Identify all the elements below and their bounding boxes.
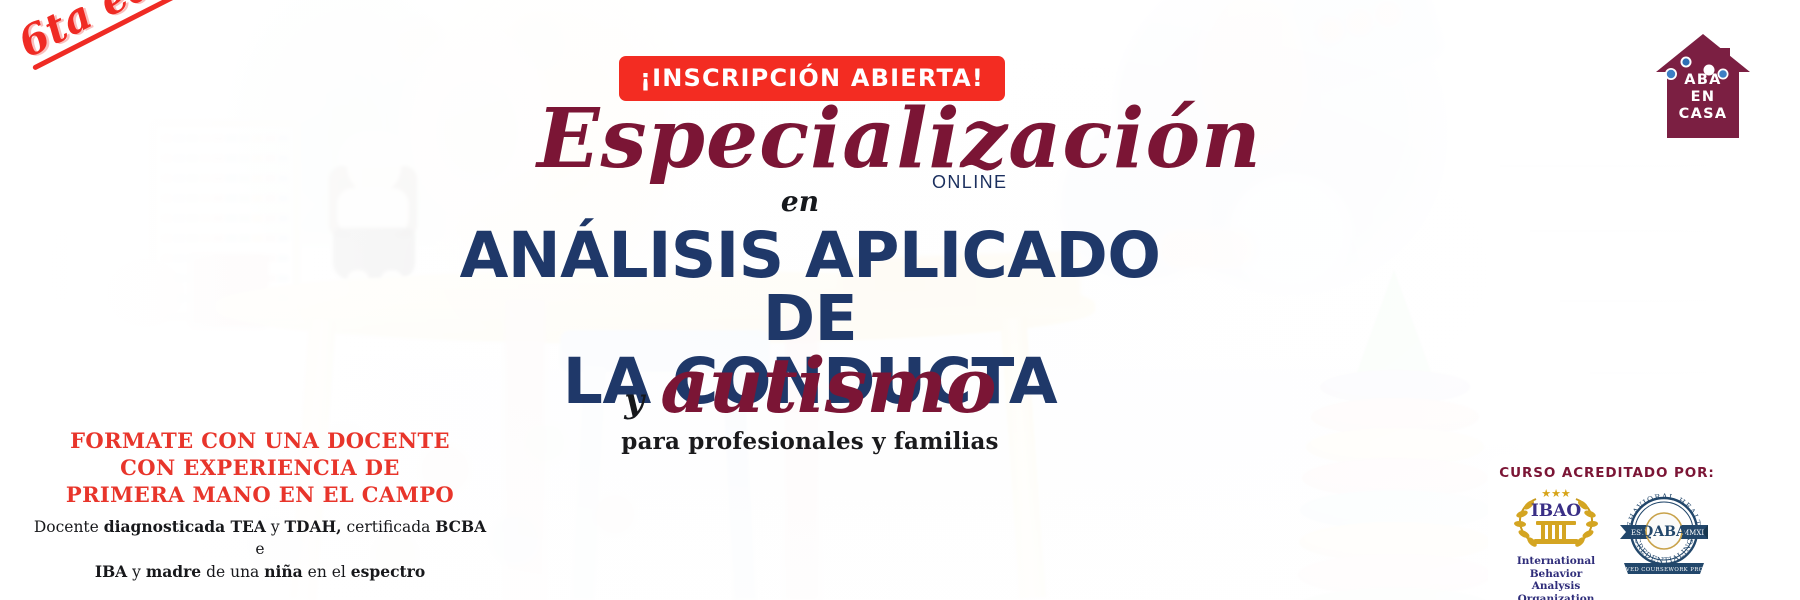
qaba-banner-text: APPROVED COURSEWORK PROVIDER: [1616, 567, 1712, 573]
ibao-name-line-2: Analysis Organization: [1502, 580, 1610, 600]
accreditation-card: CURSO ACREDITADO POR: ★★★: [1488, 455, 1726, 600]
ibao-org-name: International Behavior Analysis Organiza…: [1502, 555, 1610, 600]
teacher-highlight-line-3: PRIMERA MANO EN EL CAMPO: [55, 482, 465, 509]
connector-y: y: [624, 381, 644, 421]
teacher-highlight: FORMATE CON UNA DOCENTE CON EXPERIENCIA …: [55, 428, 465, 509]
aba-en-casa-logo: ABA EN CASA: [1653, 32, 1753, 140]
teacher-credentials-note: Docente diagnosticada TEA y TDAH, certif…: [30, 516, 490, 583]
modality-label: ONLINE: [932, 172, 1007, 193]
script-title: Especialización: [537, 98, 1077, 180]
subject-row: y autismo: [560, 348, 1060, 424]
edition-ribbon: 6ta edición: [8, 0, 277, 81]
qaba-acronym: QABA: [1641, 524, 1688, 540]
credentials-line-1: Docente diagnosticada TEA y TDAH, certif…: [30, 516, 490, 561]
headline-line-1: ANÁLISIS APLICADO DE: [460, 219, 1161, 355]
logo-line-2: EN: [1653, 89, 1753, 106]
ibao-name-line-1: International Behavior: [1502, 555, 1610, 580]
teacher-highlight-line-2: CON EXPERIENCIA DE: [55, 455, 465, 482]
ibao-acronym: IBAO: [1531, 501, 1582, 521]
credentials-line-2: IBA y madre de una niña en el espectro: [30, 561, 490, 583]
ibao-logo: ★★★: [1502, 487, 1610, 600]
svg-text:★★★: ★★★: [1541, 487, 1571, 500]
qaba-seal-icon: BEHAVIORAL HEALTH CREDENTIALING EST. MMX…: [1616, 487, 1712, 575]
edition-label: 6ta edición: [12, 0, 264, 64]
teacher-highlight-line-1: FORMATE CON UNA DOCENTE: [55, 428, 465, 455]
script-subject: autismo: [660, 348, 995, 424]
qaba-logo: BEHAVIORAL HEALTH CREDENTIALING EST. MMX…: [1616, 487, 1712, 580]
house-logo-text: ABA EN CASA: [1653, 72, 1753, 122]
audience-line: para profesionales y familias: [560, 428, 1060, 455]
connector-en: en: [760, 185, 840, 218]
logo-line-3: CASA: [1653, 106, 1753, 123]
ibao-seal-icon: ★★★: [1506, 487, 1606, 549]
logo-line-1: ABA: [1653, 72, 1753, 89]
accreditation-title: CURSO ACREDITADO POR:: [1498, 465, 1716, 481]
promo-banner: 6ta edición ¡INSCRIPCIÓN ABIERTA! Especi…: [0, 0, 1800, 600]
